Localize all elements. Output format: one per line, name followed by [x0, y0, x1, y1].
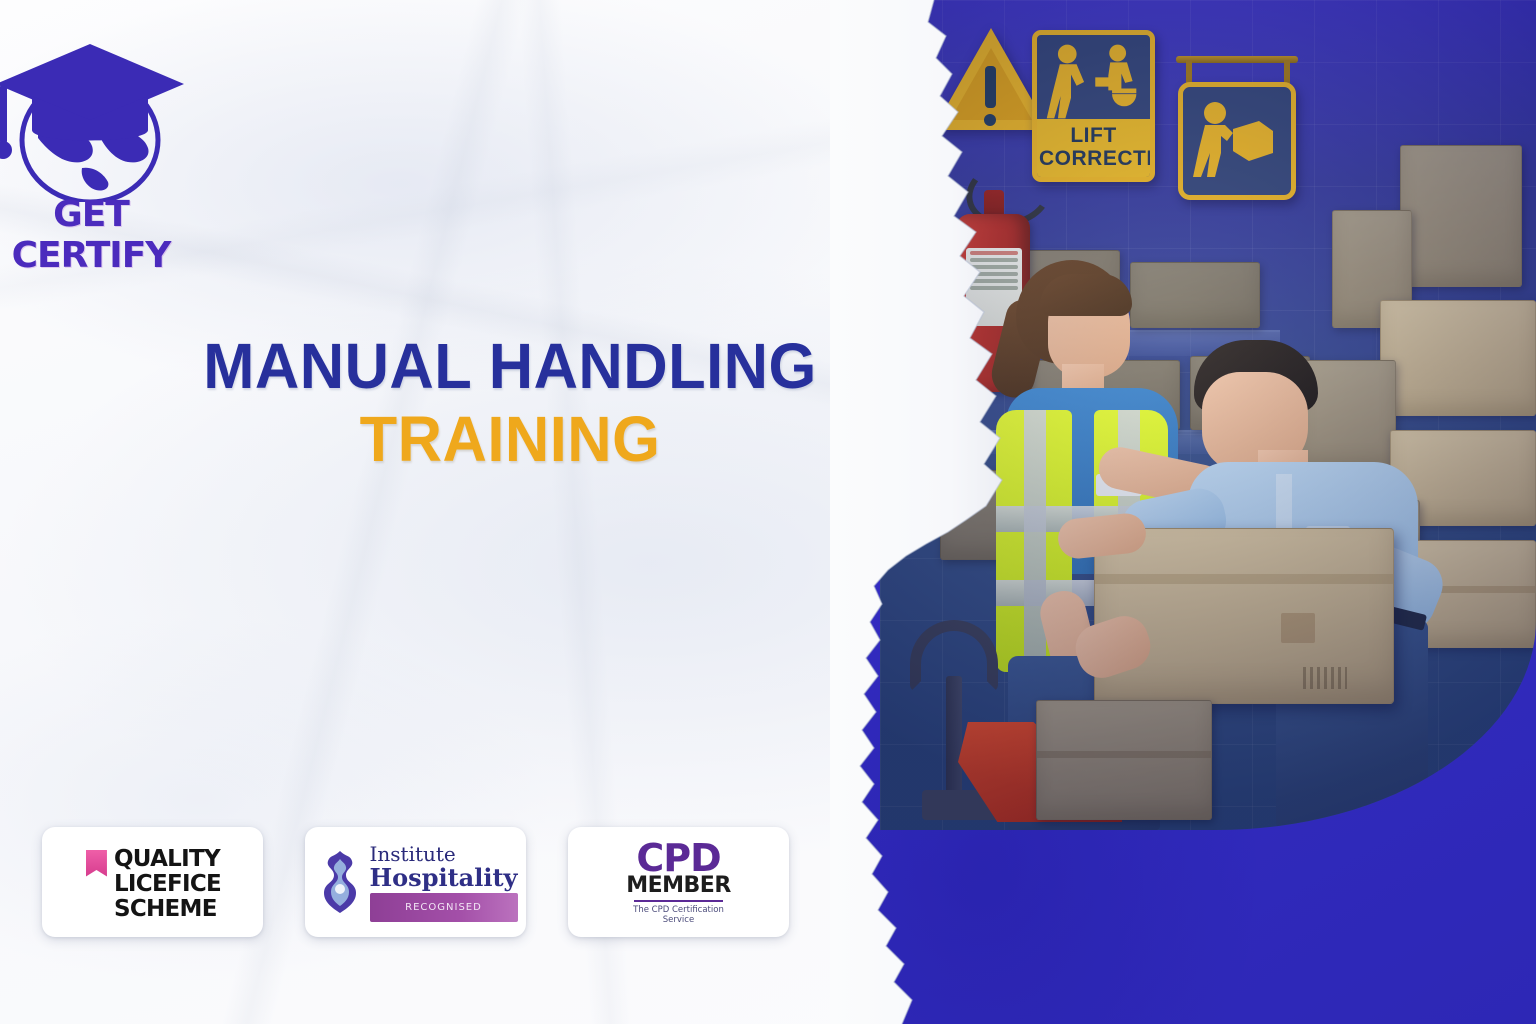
badge-institute-of-hospitality[interactable]: Institute Hospitality RECOGNISED: [305, 827, 526, 937]
badge-cpd-member-text: CPD MEMBER The CPD Certification Service: [626, 839, 731, 925]
badge-institute-of-hospitality-text: Institute Hospitality RECOGNISED: [370, 843, 518, 922]
badge-quality-licence-scheme[interactable]: QUALITY LICEFICE SCHEME: [42, 827, 263, 937]
cpd-tiny-line-2: Service: [626, 915, 731, 925]
brand-logo-text: GET CERTIFY: [0, 194, 196, 276]
graduation-cap-globe-icon: [0, 22, 196, 202]
torn-paper-edge: [830, 0, 1070, 1024]
ioh-line-2: Hospitality: [370, 866, 518, 889]
ioh-banner: RECOGNISED: [370, 893, 518, 922]
heraldic-crest-icon: [316, 849, 364, 915]
qls-line-1: QUALITY: [114, 847, 221, 872]
training-course-banner: LIFT CORRECTLY: [0, 0, 1536, 1024]
qls-line-3: SCHEME: [114, 897, 221, 922]
cpd-tiny-line-1: The CPD Certification: [626, 905, 731, 915]
badge-cpd-member[interactable]: CPD MEMBER The CPD Certification Service: [568, 827, 789, 937]
title-line-secondary: TRAINING: [174, 402, 846, 476]
qls-line-2: LICEFICE: [114, 872, 221, 897]
cpd-sub-text: MEMBER: [626, 875, 731, 897]
title-line-primary: MANUAL HANDLING: [174, 330, 846, 402]
cpd-divider: [634, 900, 723, 902]
accreditation-badge-row: QUALITY LICEFICE SCHEME Institute Hospit…: [42, 827, 789, 937]
brand-logo[interactable]: GET CERTIFY: [0, 22, 196, 234]
page-title: MANUAL HANDLING TRAINING: [160, 330, 860, 476]
badge-quality-licence-scheme-text: QUALITY LICEFICE SCHEME: [114, 847, 221, 922]
ribbon-bookmark-icon: [86, 850, 107, 877]
cpd-main-text: CPD: [626, 839, 731, 877]
